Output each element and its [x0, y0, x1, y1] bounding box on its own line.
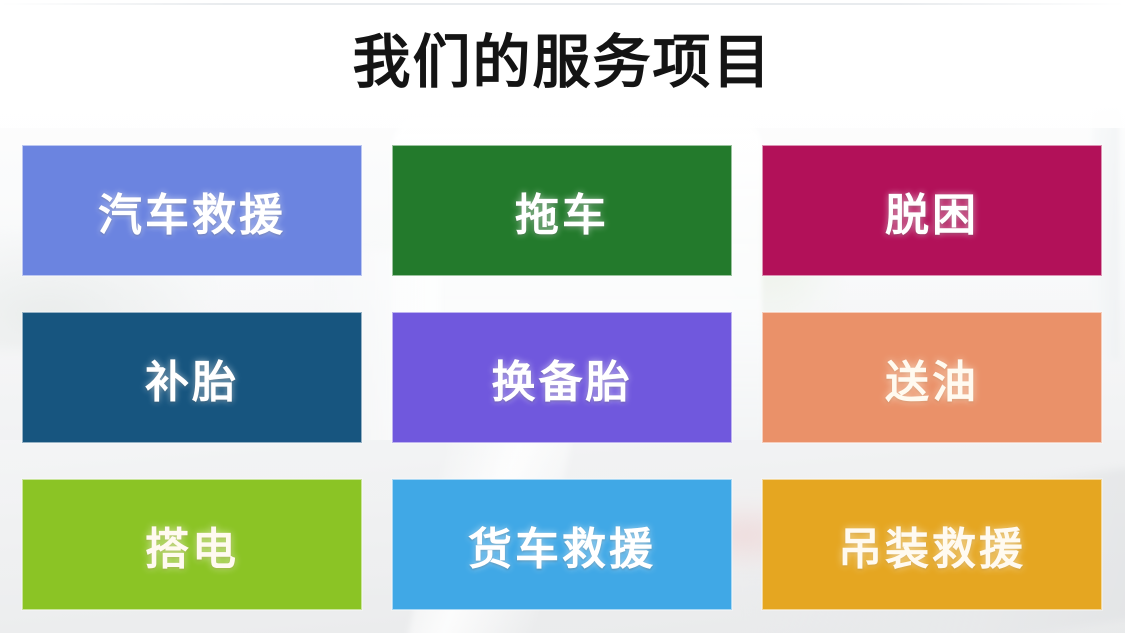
- service-tile-car-rescue[interactable]: 汽车救援: [22, 145, 362, 276]
- service-label-truck-rescue: 货车救援: [468, 513, 656, 577]
- service-tile-truck-rescue[interactable]: 货车救援: [392, 479, 732, 610]
- service-label-tire-repair: 补胎: [145, 346, 239, 410]
- service-tile-hoisting-rescue[interactable]: 吊装救援: [762, 479, 1102, 610]
- page-title: 我们的服务项目: [0, 22, 1125, 104]
- service-label-jump-start: 搭电: [145, 513, 239, 577]
- service-tile-extrication[interactable]: 脱困: [762, 145, 1102, 276]
- service-tile-jump-start[interactable]: 搭电: [22, 479, 362, 610]
- service-tile-spare-tire-change[interactable]: 换备胎: [392, 312, 732, 443]
- service-tile-tow-truck[interactable]: 拖车: [392, 145, 732, 276]
- service-poster: 我们的服务项目 汽车救援 拖车 脱困 补胎 换备胎 送油 搭电 货车救援 吊装救…: [0, 0, 1125, 633]
- service-grid: 汽车救援 拖车 脱困 补胎 换备胎 送油 搭电 货车救援 吊装救援: [22, 145, 1102, 618]
- service-label-spare-tire-change: 换备胎: [492, 346, 633, 410]
- service-label-fuel-delivery: 送油: [885, 346, 979, 410]
- service-tile-fuel-delivery[interactable]: 送油: [762, 312, 1102, 443]
- service-label-tow-truck: 拖车: [515, 179, 609, 243]
- service-tile-tire-repair[interactable]: 补胎: [22, 312, 362, 443]
- service-label-extrication: 脱困: [885, 179, 979, 243]
- top-hairline: [0, 3, 1125, 5]
- service-label-car-rescue: 汽车救援: [98, 179, 286, 243]
- service-label-hoisting-rescue: 吊装救援: [838, 513, 1026, 577]
